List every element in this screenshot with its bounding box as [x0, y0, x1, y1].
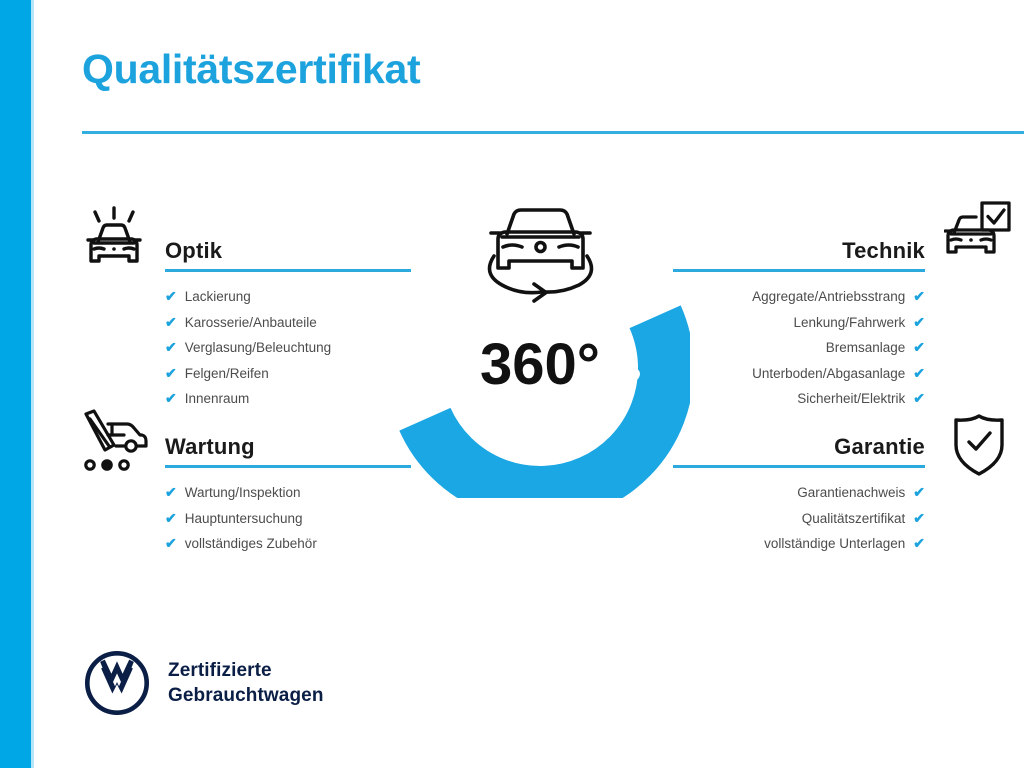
list-item-label: Lackierung	[185, 285, 251, 310]
list-item: ✔ Karosserie/Anbauteile	[165, 310, 411, 336]
left-accent-bar-edge	[31, 0, 34, 768]
list-item: ✔ Hauptuntersuchung	[165, 506, 411, 532]
section-header-optik: Optik	[165, 238, 411, 272]
check-icon: ✔	[913, 480, 925, 505]
list-item-label: Unterboden/Abgasanlage	[752, 362, 905, 387]
section-divider-garantie	[673, 465, 925, 468]
badge-center-label: 360°	[480, 332, 600, 397]
list-item-label: vollständiges Zubehör	[185, 532, 317, 557]
check-icon: ✔	[165, 335, 177, 360]
section-title-wartung: Wartung	[165, 434, 411, 460]
section-garantie: Garantie Garantienachweis ✔ Qualitätszer…	[673, 434, 925, 557]
check-icon: ✔	[913, 531, 925, 556]
list-item-label: Hauptuntersuchung	[185, 507, 303, 532]
list-item-label: vollständige Unterlagen	[764, 532, 905, 557]
check-icon: ✔	[165, 531, 177, 556]
list-item-label: Qualitätszertifikat	[802, 507, 906, 532]
check-icon: ✔	[913, 506, 925, 531]
list-item-label: Karosserie/Anbauteile	[185, 311, 317, 336]
360-check-badge: Gebrauchtwagen-Check 360°	[390, 192, 690, 498]
section-optik: Optik ✔ Lackierung ✔ Karosserie/Anbautei…	[165, 238, 411, 412]
page-title: Qualitätszertifikat	[82, 49, 420, 90]
check-icon: ✔	[913, 386, 925, 411]
certificate-page: Qualitätszertifikat	[0, 0, 1024, 768]
list-item: ✔ Wartung/Inspektion	[165, 480, 411, 506]
list-item: Bremsanlage ✔	[673, 335, 925, 361]
footer-brand-text: Zertifizierte Gebrauchtwagen	[168, 658, 324, 708]
check-icon: ✔	[913, 361, 925, 386]
list-item: ✔ Felgen/Reifen	[165, 361, 411, 387]
service-pen-car-icon	[78, 408, 150, 479]
section-technik: Technik Aggregate/Antriebsstrang ✔ Lenku…	[673, 238, 925, 412]
list-item-label: Innenraum	[185, 387, 250, 412]
list-item: vollständige Unterlagen ✔	[673, 531, 925, 557]
footer-brand: Zertifizierte Gebrauchtwagen	[84, 650, 324, 716]
list-item: Unterboden/Abgasanlage ✔	[673, 361, 925, 387]
list-item-label: Felgen/Reifen	[185, 362, 269, 387]
section-wartung: Wartung ✔ Wartung/Inspektion ✔ Hauptunte…	[165, 434, 411, 557]
list-item: Garantienachweis ✔	[673, 480, 925, 506]
check-icon: ✔	[165, 386, 177, 411]
check-icon: ✔	[165, 506, 177, 531]
list-item-label: Verglasung/Beleuchtung	[185, 336, 331, 361]
checklist-optik: ✔ Lackierung ✔ Karosserie/Anbauteile ✔ V…	[165, 284, 411, 412]
list-item-label: Sicherheit/Elektrik	[797, 387, 905, 412]
section-title-technik: Technik	[673, 238, 925, 264]
list-item: Sicherheit/Elektrik ✔	[673, 386, 925, 412]
section-title-garantie: Garantie	[673, 434, 925, 460]
section-header-technik: Technik	[673, 238, 925, 272]
list-item: Aggregate/Antriebsstrang ✔	[673, 284, 925, 310]
list-item-label: Garantienachweis	[797, 481, 905, 506]
vw-logo	[84, 650, 150, 716]
list-item: ✔ Innenraum	[165, 386, 411, 412]
section-divider-wartung	[165, 465, 411, 468]
footer-line-1: Zertifizierte	[168, 658, 324, 683]
car-front-rotation-icon	[490, 210, 592, 301]
list-item: Lenkung/Fahrwerk ✔	[673, 310, 925, 336]
section-header-wartung: Wartung	[165, 434, 411, 468]
section-divider-technik	[673, 269, 925, 272]
check-icon: ✔	[165, 361, 177, 386]
section-title-optik: Optik	[165, 238, 411, 264]
check-icon: ✔	[165, 310, 177, 335]
checklist-technik: Aggregate/Antriebsstrang ✔ Lenkung/Fahrw…	[673, 284, 925, 412]
checklist-wartung: ✔ Wartung/Inspektion ✔ Hauptuntersuchung…	[165, 480, 411, 557]
section-divider-optik	[165, 269, 411, 272]
check-icon: ✔	[165, 480, 177, 505]
list-item-label: Aggregate/Antriebsstrang	[752, 285, 905, 310]
checklist-garantie: Garantienachweis ✔ Qualitätszertifikat ✔…	[673, 480, 925, 557]
title-divider	[82, 131, 1024, 134]
left-accent-bar	[0, 0, 31, 768]
shield-check-icon	[950, 412, 1008, 483]
footer-line-2: Gebrauchtwagen	[168, 683, 324, 708]
check-icon: ✔	[913, 335, 925, 360]
list-item: ✔ vollständiges Zubehör	[165, 531, 411, 557]
list-item: ✔ Lackierung	[165, 284, 411, 310]
check-icon: ✔	[913, 310, 925, 335]
list-item-label: Lenkung/Fahrwerk	[793, 311, 905, 336]
list-item: Qualitätszertifikat ✔	[673, 506, 925, 532]
list-item: ✔ Verglasung/Beleuchtung	[165, 335, 411, 361]
list-item-label: Bremsanlage	[826, 336, 906, 361]
shiny-car-front-icon	[78, 206, 150, 283]
check-icon: ✔	[165, 284, 177, 309]
check-icon: ✔	[913, 284, 925, 309]
list-item-label: Wartung/Inspektion	[185, 481, 301, 506]
car-front-checkbox-icon	[944, 200, 1012, 275]
section-header-garantie: Garantie	[673, 434, 925, 468]
